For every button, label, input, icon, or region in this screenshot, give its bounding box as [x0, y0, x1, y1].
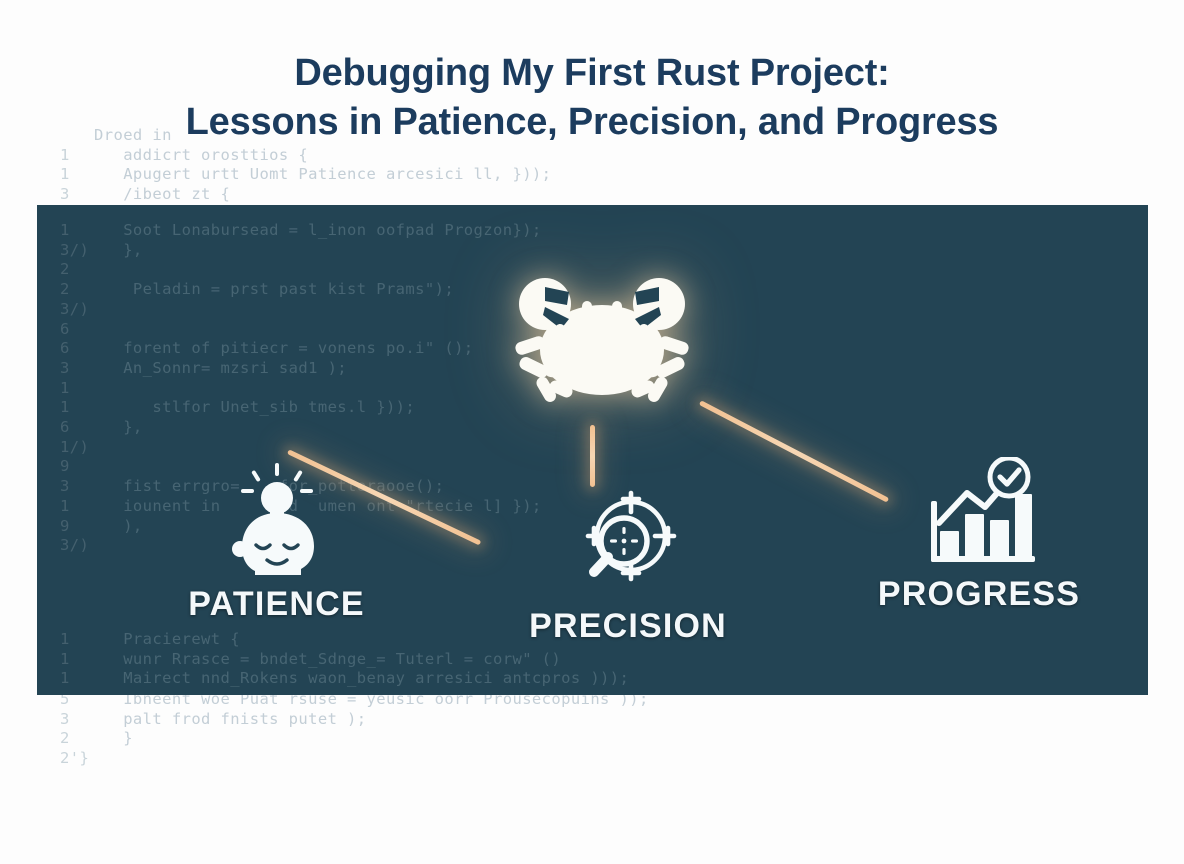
code-line-text: palt frod fnists putet );: [94, 710, 367, 728]
code-line: 6: [60, 320, 542, 340]
code-line: 1 wunr Rrasce = bndet_Sdnge_= Tuterl = c…: [60, 650, 629, 670]
code-line-number: 2'}: [60, 749, 94, 769]
code-line-number: 3: [60, 477, 94, 497]
code-line: 3 palt frod fnists putet );: [60, 710, 649, 730]
code-line-number: 1/): [60, 438, 94, 458]
code-line-text: forent of pitiecr = vonens po.i" ();: [94, 339, 474, 357]
code-line: 2 Peladin = prst past kist Prams");: [60, 280, 542, 300]
rust-crab-ferris-icon: [497, 243, 707, 418]
connector-crab-to-precision: [590, 425, 595, 487]
code-line-text: Mairect nnd_Rokens waon_benay arresici a…: [94, 669, 629, 687]
code-line-number: 1: [60, 221, 94, 241]
code-line-text: /ibeot zt {: [94, 185, 230, 203]
code-line: 3/) },: [60, 241, 542, 261]
code-line-text: },: [94, 241, 143, 259]
code-line: 2'}: [60, 749, 649, 769]
node-label-precision: PRECISION: [497, 607, 759, 646]
code-line-number: 1: [60, 398, 94, 418]
code-line-number: 9: [60, 457, 94, 477]
code-line-text: Soot Lonabursead = l_inon oofpad Progzon…: [94, 221, 542, 239]
code-line-number: 1: [60, 650, 94, 670]
code-line-number: 3/): [60, 241, 94, 261]
code-line-text: Apugert urtt Uomt Patience arcesici ll, …: [94, 165, 551, 183]
code-line: 2 }: [60, 729, 649, 749]
code-line: 3/): [60, 300, 542, 320]
code-line: 1 stlfor Unet_sib tmes.l }));: [60, 398, 542, 418]
code-line-text: An_Sonnr= mzsri sad1 );: [94, 359, 347, 377]
page-title-line-2: Lessons in Patience, Precision, and Prog…: [0, 101, 1184, 144]
code-line-text: Peladin = prst past kist Prams");: [94, 280, 454, 298]
node-patience[interactable]: PATIENCE: [149, 463, 404, 624]
poster-canvas: Droed in1 addicrt orosttios {1 Apugert u…: [0, 0, 1184, 864]
code-line: 1 Apugert urtt Uomt Patience arcesici ll…: [60, 165, 678, 185]
code-line: 1 Mairect nnd_Rokens waon_benay arresici…: [60, 669, 629, 689]
code-line-number: 1: [60, 630, 94, 650]
code-line-number: 2: [60, 729, 94, 749]
code-line-text: wunr Rrasce = bndet_Sdnge_= Tuterl = cor…: [94, 650, 561, 668]
head-with-lightbulb-icon: [149, 463, 404, 575]
bar-chart-trend-check-icon: [845, 457, 1113, 565]
code-line-text: stlfor Unet_sib tmes.l }));: [94, 398, 415, 416]
node-label-patience: PATIENCE: [149, 585, 404, 624]
code-line: 1 addicrt orosttios {: [60, 146, 678, 166]
code-line-number: 3: [60, 710, 94, 730]
code-line-text: Pracierewt {: [94, 630, 240, 648]
code-line-number: 1: [60, 497, 94, 517]
code-block-bottom: 5 Ibneent woe Puat rsuse = yeusic oorr P…: [60, 690, 649, 769]
code-line-number: 3: [60, 185, 94, 205]
code-line: 6 },: [60, 418, 542, 438]
code-line-number: 6: [60, 339, 94, 359]
code-line-number: 6: [60, 320, 94, 340]
code-line-number: 9: [60, 517, 94, 537]
code-line: 1 Soot Lonabursead = l_inon oofpad Progz…: [60, 221, 542, 241]
code-line-text: }: [94, 729, 133, 747]
code-line: 1: [60, 379, 542, 399]
code-line: 3 /ibeot zt {: [60, 185, 678, 205]
node-precision[interactable]: PRECISION: [497, 487, 759, 646]
code-line-number: 2: [60, 280, 94, 300]
code-line-number: 1: [60, 379, 94, 399]
node-progress[interactable]: PROGRESS: [845, 457, 1113, 614]
code-line-number: 1: [60, 669, 94, 689]
code-line-number: 1: [60, 165, 94, 185]
code-line-text: },: [94, 418, 143, 436]
code-line-text: addicrt orosttios {: [94, 146, 308, 164]
code-line-number: 3/): [60, 536, 94, 556]
code-line: 2: [60, 260, 542, 280]
code-line: 3 An_Sonnr= mzsri sad1 );: [60, 359, 542, 379]
code-line: 6 forent of pitiecr = vonens po.i" ();: [60, 339, 542, 359]
node-label-progress: PROGRESS: [845, 575, 1113, 614]
code-line-number: 6: [60, 418, 94, 438]
code-line-number: 3/): [60, 300, 94, 320]
code-line-number: 3: [60, 359, 94, 379]
crosshair-magnifier-icon: [497, 487, 759, 595]
page-title-line-1: Debugging My First Rust Project:: [0, 52, 1184, 95]
code-line-text: ),: [94, 517, 143, 535]
code-line-number: 1: [60, 146, 94, 166]
code-line-number: 2: [60, 260, 94, 280]
